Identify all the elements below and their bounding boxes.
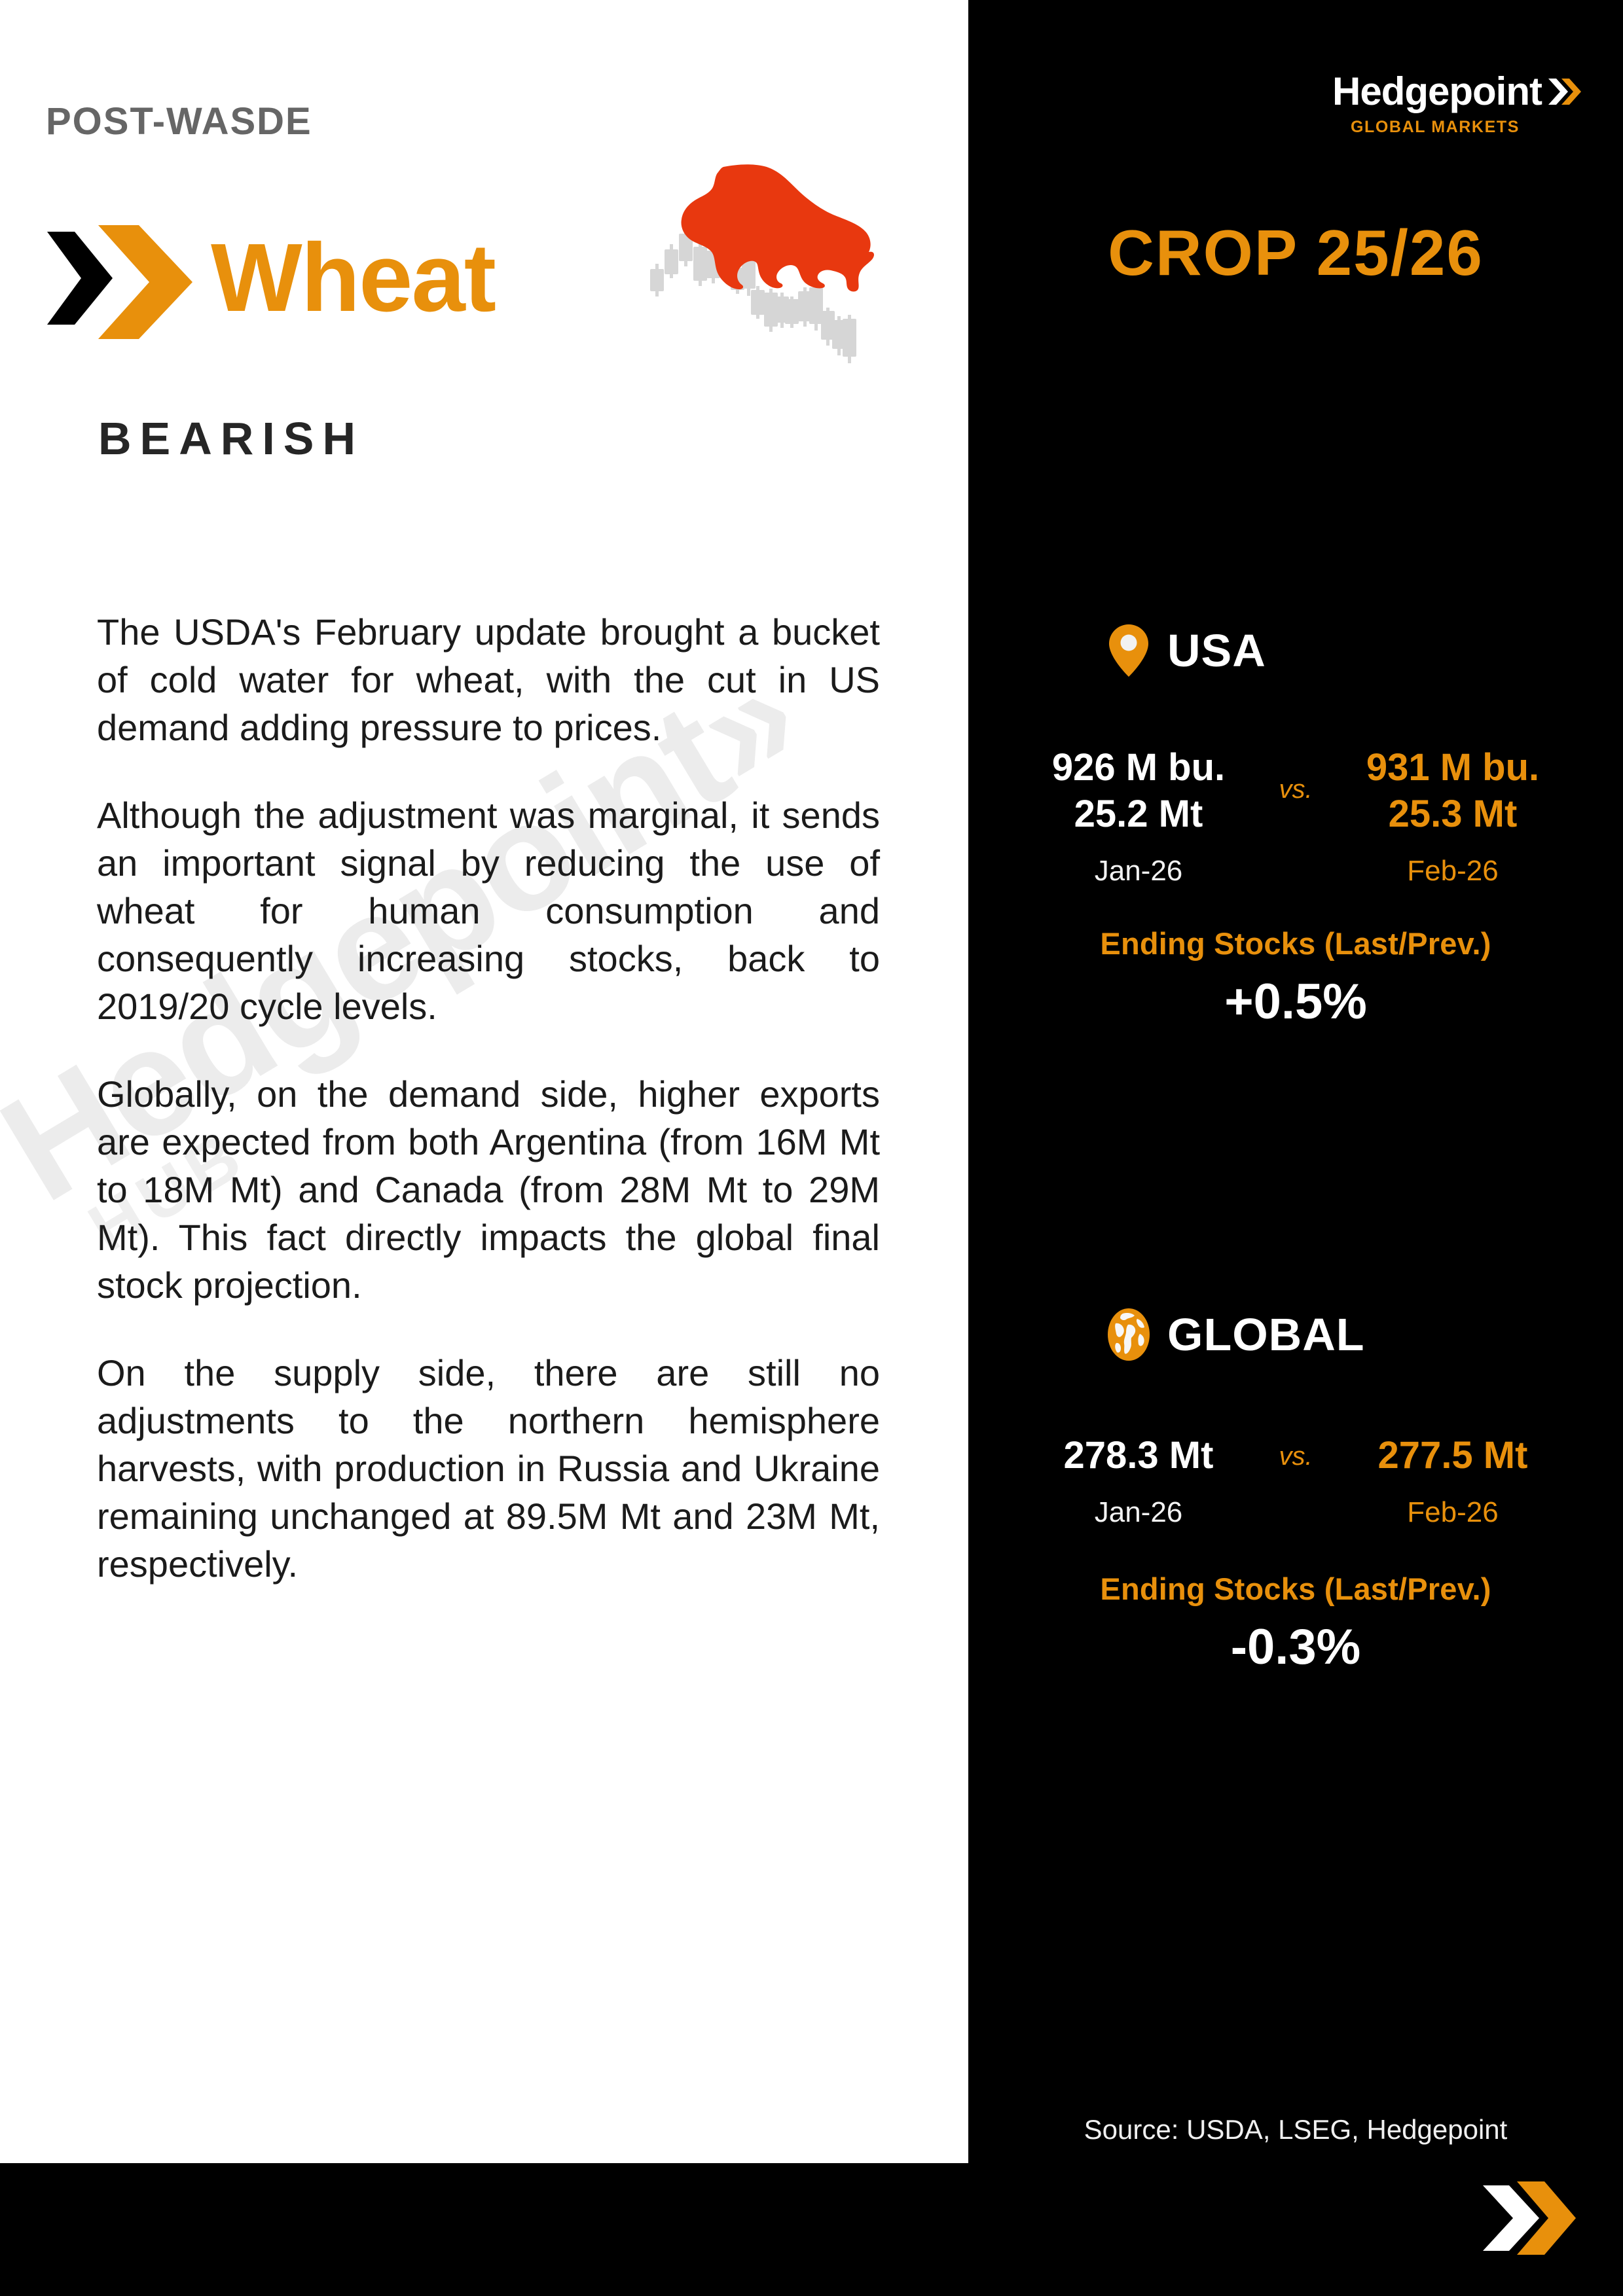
paragraph-4: On the supply side, there are still no a…: [97, 1350, 880, 1588]
prev-value-line1-global: 278.3 Mt: [1021, 1433, 1256, 1479]
region-block-global: GLOBAL 278.3 Mt Jan-26 vs. 277.5 Mt Feb-…: [968, 1304, 1623, 1676]
comparison-last-usa: 931 M bu. 25.3 Mt Feb-26: [1335, 745, 1571, 888]
page-title: Wheat: [211, 230, 495, 327]
crop-year-title: CROP 25/26: [968, 216, 1623, 290]
body-copy: The USDA's February update brought a buc…: [97, 609, 880, 1588]
comparison-last-global: 277.5 Mt Feb-26: [1335, 1433, 1571, 1529]
comparison-prev-global: 278.3 Mt Jan-26: [1021, 1433, 1256, 1529]
paragraph-1: The USDA's February update brought a buc…: [97, 609, 880, 751]
kicker-label: POST-WASDE: [46, 99, 312, 143]
versus-label-global: vs.: [1256, 1442, 1335, 1471]
region-header-usa: USA: [968, 620, 1623, 681]
last-date-global: Feb-26: [1335, 1496, 1571, 1529]
brand-tagline: GLOBAL MARKETS: [1332, 118, 1520, 137]
right-stats-panel: Hedgepoint GLOBAL MARKETS CROP 25/26: [968, 0, 1623, 2296]
prev-date-usa: Jan-26: [1021, 855, 1256, 888]
brand-name: Hedgepoint: [1332, 72, 1542, 111]
double-chevron-right-icon: [1546, 73, 1582, 110]
globe-icon: [1107, 1308, 1150, 1361]
region-header-global: GLOBAL: [968, 1304, 1623, 1365]
map-pin-icon: [1107, 624, 1150, 677]
stock-delta-usa: +0.5%: [968, 973, 1623, 1030]
region-label-usa: USA: [1167, 624, 1266, 677]
comparison-row-global: 278.3 Mt Jan-26 vs. 277.5 Mt Feb-26: [968, 1433, 1623, 1529]
region-block-usa: USA 926 M bu. 25.2 Mt Jan-26 vs. 931 M b…: [968, 620, 1623, 1030]
double-chevron-right-icon: [1479, 2176, 1577, 2263]
comparison-row-usa: 926 M bu. 25.2 Mt Jan-26 vs. 931 M bu. 2…: [968, 745, 1623, 888]
brand-lockup: Hedgepoint GLOBAL MARKETS: [1332, 72, 1582, 137]
prev-date-global: Jan-26: [1021, 1496, 1256, 1529]
versus-label-usa: vs.: [1256, 775, 1335, 804]
stock-delta-global: -0.3%: [968, 1619, 1623, 1676]
infographic-page: Hedgepoint» HUB POST-WASDE Wheat: [0, 0, 1623, 2296]
prev-value-line1-usa: 926 M bu.: [1021, 745, 1256, 791]
bear-candlestick-icon: [632, 147, 894, 389]
left-content-panel: Hedgepoint» HUB POST-WASDE Wheat: [0, 0, 968, 2163]
sentiment-label: BEARISH: [98, 412, 364, 465]
last-value-line2-usa: 25.3 Mt: [1335, 791, 1571, 838]
source-note: Source: USDA, LSEG, Hedgepoint: [968, 2114, 1623, 2145]
paragraph-2: Although the adjustment was marginal, it…: [97, 792, 880, 1030]
last-date-usa: Feb-26: [1335, 855, 1571, 888]
prev-value-line2-usa: 25.2 Mt: [1021, 791, 1256, 838]
stock-label-global: Ending Stocks (Last/Prev.): [968, 1571, 1623, 1607]
last-value-line1-usa: 931 M bu.: [1335, 745, 1571, 791]
stock-label-usa: Ending Stocks (Last/Prev.): [968, 925, 1623, 961]
paragraph-3: Globally, on the demand side, higher exp…: [97, 1071, 880, 1309]
last-value-line1-global: 277.5 Mt: [1335, 1433, 1571, 1479]
double-chevron-right-icon: [41, 223, 198, 334]
comparison-prev-usa: 926 M bu. 25.2 Mt Jan-26: [1021, 745, 1256, 888]
region-label-global: GLOBAL: [1167, 1308, 1365, 1361]
commodity-title-row: Wheat: [41, 209, 495, 347]
